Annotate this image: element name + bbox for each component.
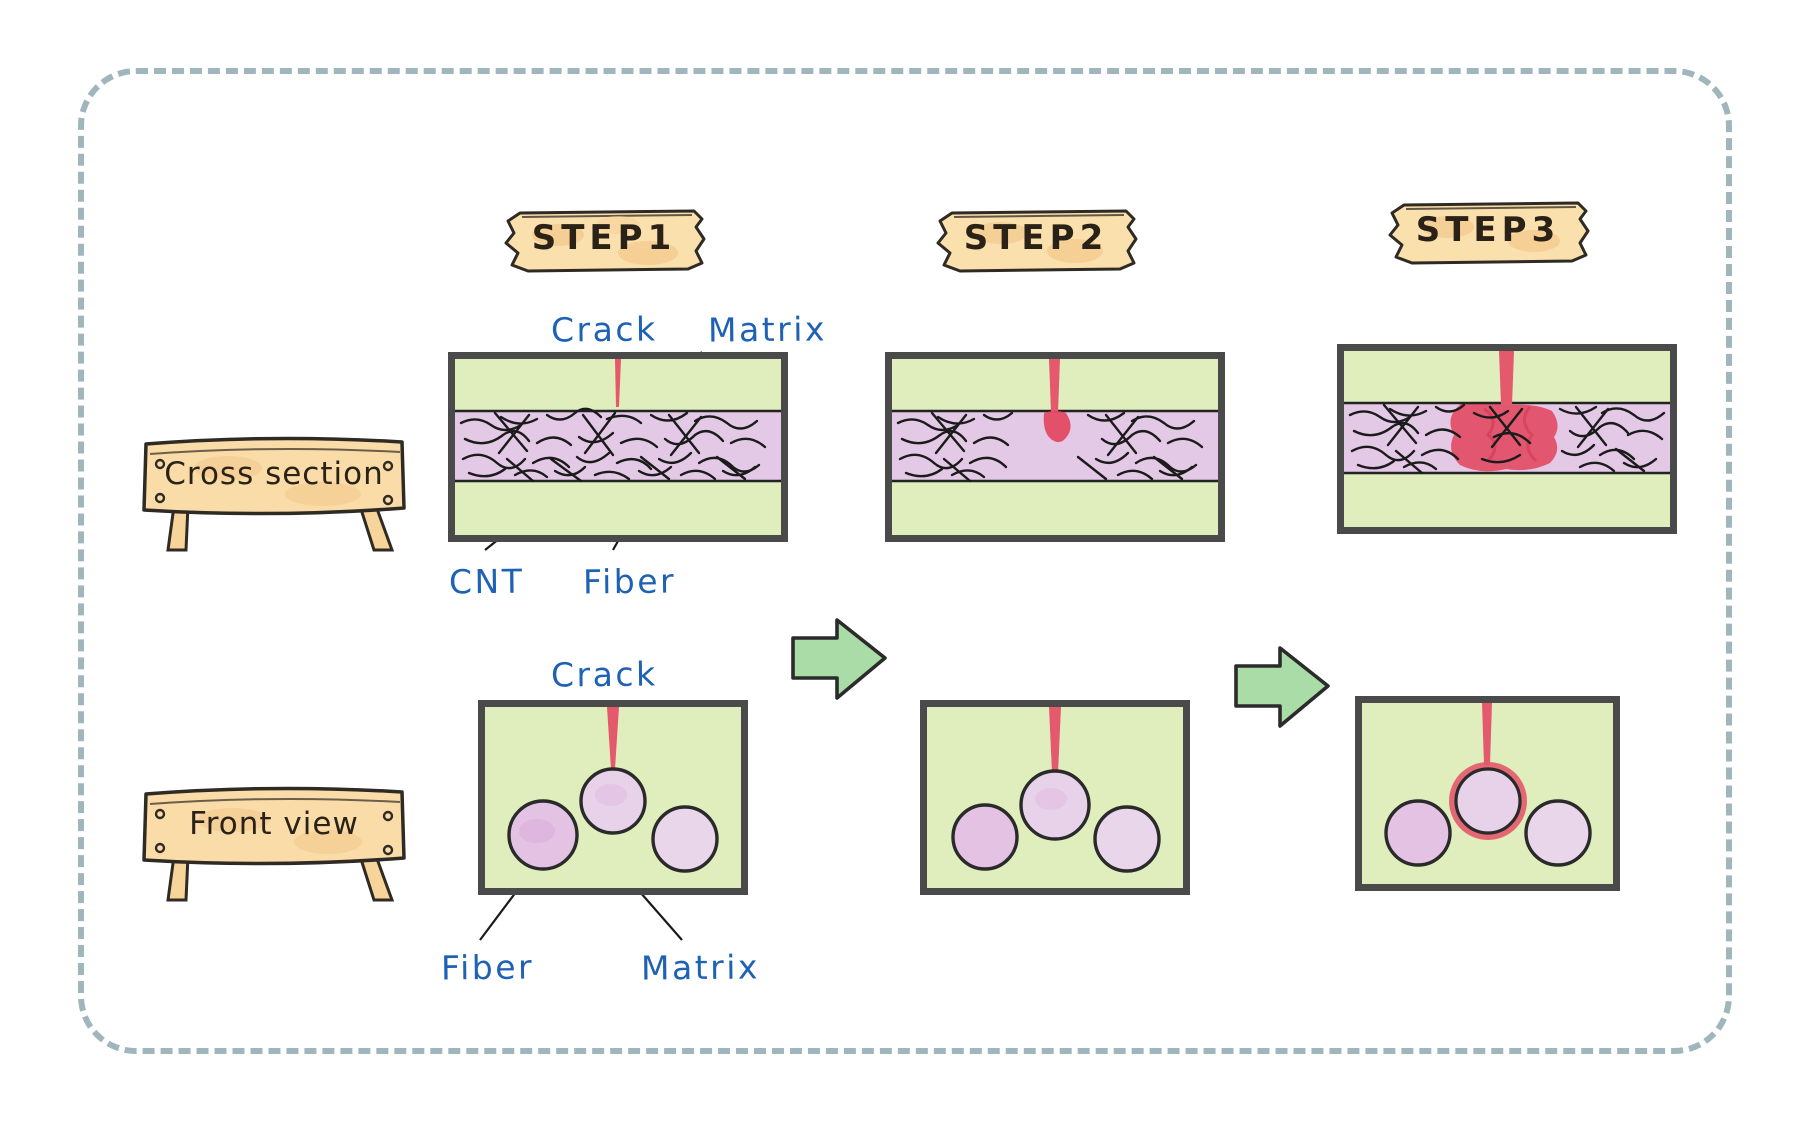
banner-step1-label: STEP1 <box>498 205 710 271</box>
arrow-step1-to-step2 <box>785 612 895 707</box>
label-crack-bottom: Crack <box>551 654 658 694</box>
panel-cross-section-step3 <box>1337 344 1677 534</box>
banner-step2-label: STEP2 <box>930 205 1142 271</box>
label-cnt: CNT <box>449 562 525 602</box>
arrow-step2-to-step3 <box>1228 640 1338 735</box>
panel-front-view-step2 <box>920 700 1190 895</box>
banner-step3: STEP3 <box>1382 197 1594 263</box>
label-fiber-top: Fiber <box>583 562 676 602</box>
label-crack-top: Crack <box>551 309 658 349</box>
panel-front-view-step3 <box>1355 696 1620 891</box>
banner-step3-label: STEP3 <box>1382 197 1594 263</box>
label-matrix-top: Matrix <box>708 309 827 349</box>
label-fiber-bottom: Fiber <box>441 948 534 988</box>
row-sign-front-view-label: Front view <box>138 786 410 862</box>
panel-cross-section-step1 <box>448 352 788 542</box>
row-sign-front-view: Front view <box>138 778 410 903</box>
row-sign-cross-section-label: Cross section <box>138 436 410 512</box>
panel-front-view-step1 <box>478 700 748 895</box>
label-matrix-bottom: Matrix <box>641 947 760 987</box>
banner-step1: STEP1 <box>498 205 710 271</box>
banner-step2: STEP2 <box>930 205 1142 271</box>
row-sign-cross-section: Cross section <box>138 428 410 553</box>
panel-cross-section-step2 <box>885 352 1225 542</box>
